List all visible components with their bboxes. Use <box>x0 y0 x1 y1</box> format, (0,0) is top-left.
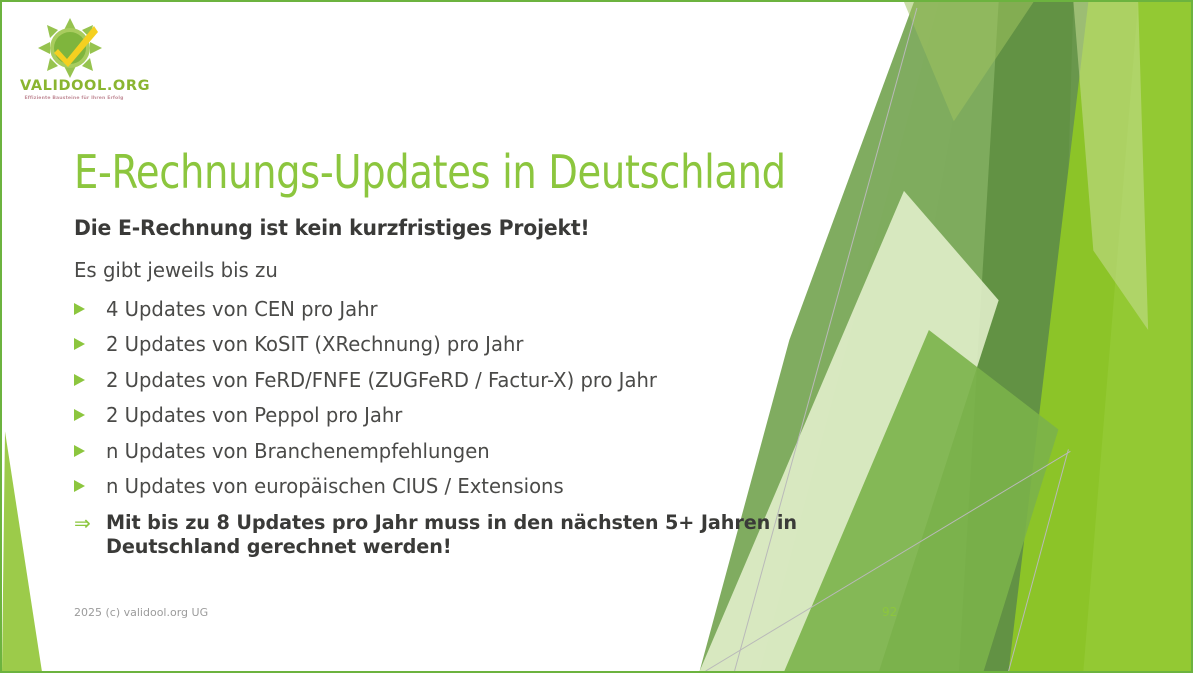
triangle-bullet-icon <box>74 298 106 315</box>
conclusion-label: Mit bis zu 8 Updates pro Jahr muss in de… <box>106 511 853 559</box>
triangle-bullet-icon <box>74 475 106 492</box>
triangle-bullet-icon <box>74 369 106 386</box>
list-item: 4 Updates von CEN pro Jahr <box>74 298 864 321</box>
logo-wordmark: VALIDOOL.ORG <box>20 78 128 94</box>
list-item: 2 Updates von Peppol pro Jahr <box>74 404 864 427</box>
page-number: 92 <box>882 605 897 619</box>
footer-copyright: 2025 (c) validool.org UG <box>74 606 208 619</box>
triangle-bullet-icon <box>74 440 106 457</box>
list-item-label: 2 Updates von Peppol pro Jahr <box>106 404 402 427</box>
list-item: 2 Updates von KoSIT (XRechnung) pro Jahr <box>74 333 864 356</box>
list-item: 2 Updates von FeRD/FNFE (ZUGFeRD / Factu… <box>74 369 864 392</box>
list-item-label: 2 Updates von KoSIT (XRechnung) pro Jahr <box>106 333 523 356</box>
hairline-diagonal-3 <box>1009 449 1069 671</box>
double-arrow-bullet-icon: ⇒ <box>74 511 106 533</box>
list-item-label: 4 Updates von CEN pro Jahr <box>106 298 378 321</box>
list-item-label: n Updates von europäischen CIUS / Extens… <box>106 475 564 498</box>
sun-checkmark-icon <box>34 18 106 78</box>
presentation-slide: VALIDOOL.ORG Effiziente Bausteine für Ih… <box>0 0 1193 673</box>
left-green-wedge <box>2 431 42 671</box>
logo-tagline: Effiziente Bausteine für Ihren Erfolg <box>20 96 128 101</box>
list-item: n Updates von europäischen CIUS / Extens… <box>74 475 864 498</box>
list-item-label: n Updates von Branchenempfehlungen <box>106 440 490 463</box>
lead-statement: Es gibt jeweils bis zu <box>74 258 832 282</box>
bullet-list: 4 Updates von CEN pro Jahr 2 Updates von… <box>74 298 864 558</box>
list-item-label: 2 Updates von FeRD/FNFE (ZUGFeRD / Factu… <box>106 369 657 392</box>
triangle-bullet-icon <box>74 404 106 421</box>
validool-logo: VALIDOOL.ORG Effiziente Bausteine für Ih… <box>20 18 128 108</box>
lead-bold-statement: Die E-Rechnung ist kein kurzfristiges Pr… <box>74 216 840 240</box>
slide-body: Die E-Rechnung ist kein kurzfristiges Pr… <box>74 216 864 571</box>
page-title: E-Rechnungs-Updates in Deutschland <box>74 145 786 199</box>
triangle-bullet-icon <box>74 333 106 350</box>
list-item: n Updates von Branchenempfehlungen <box>74 440 864 463</box>
conclusion-item: ⇒ Mit bis zu 8 Updates pro Jahr muss in … <box>74 511 864 559</box>
